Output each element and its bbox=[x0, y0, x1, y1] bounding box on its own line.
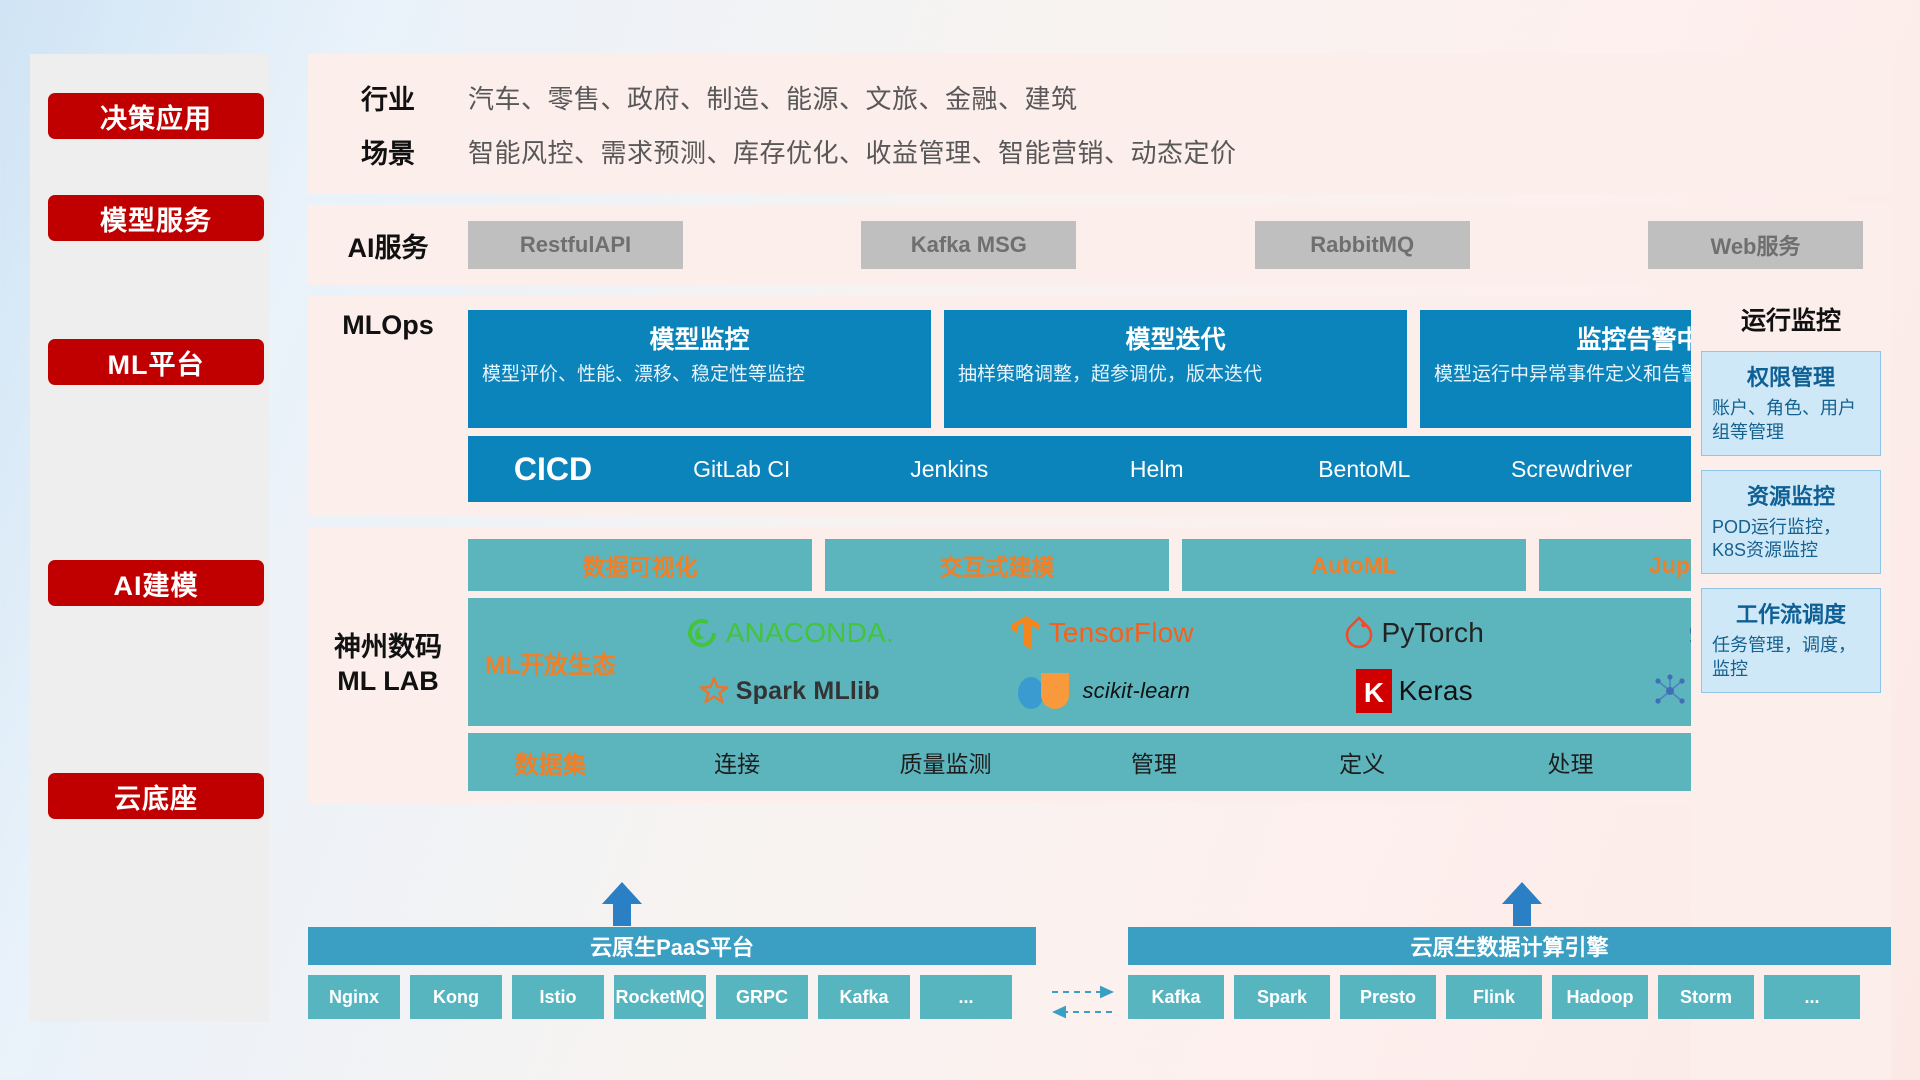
stage-pill-ai-modeling[interactable]: AI建模 bbox=[48, 560, 264, 606]
paas-chip-kong[interactable]: Kong bbox=[410, 975, 502, 1019]
scenario-value: 智能风控、需求预测、库存优化、收益管理、智能营销、动态定价 bbox=[468, 133, 1237, 170]
keras-icon: K bbox=[1356, 669, 1392, 713]
paas-chip-row: Nginx Kong Istio RocketMQ GRPC Kafka ... bbox=[308, 975, 1012, 1019]
arrow-up-paas-icon bbox=[598, 880, 646, 928]
data-chip-hadoop[interactable]: Hadoop bbox=[1552, 975, 1648, 1019]
mlops-card-model-monitoring[interactable]: 模型监控 模型评价、性能、漂移、稳定性等监控 bbox=[468, 310, 931, 428]
cicd-item-jenkins[interactable]: Jenkins bbox=[846, 458, 1054, 481]
scikit-learn-logo: scikit-learn bbox=[946, 662, 1259, 720]
ml-ecosystem-box: ML开放生态 ANACONDA. bbox=[468, 598, 1883, 726]
monitoring-card-title: 工作流调度 bbox=[1712, 597, 1870, 629]
monitoring-title: 运行监控 bbox=[1741, 301, 1841, 337]
modeling-row: 神州数码 ML LAB 数据可视化 交互式建模 AutoML JupyterLa… bbox=[308, 527, 1891, 803]
cicd-item-helm[interactable]: Helm bbox=[1053, 458, 1261, 481]
scikit-learn-icon bbox=[1013, 669, 1075, 713]
tool-chip-interactive-modeling[interactable]: 交互式建模 bbox=[825, 539, 1169, 591]
mlops-band: MLOps 模型监控 模型评价、性能、漂移、稳定性等监控 模型迭代 抽样策略调整… bbox=[308, 296, 1891, 516]
tool-chip-data-visualization[interactable]: 数据可视化 bbox=[468, 539, 812, 591]
arrow-up-data-icon bbox=[1498, 880, 1546, 928]
band-divider bbox=[308, 516, 1891, 527]
scikit-learn-logo-text: scikit-learn bbox=[1082, 678, 1190, 704]
data-chip-presto[interactable]: Presto bbox=[1340, 975, 1436, 1019]
paas-data-link-icon bbox=[1050, 984, 1116, 1020]
band-divider bbox=[308, 194, 1891, 205]
ml-lab-label: 神州数码 ML LAB bbox=[308, 539, 468, 791]
dataset-item-connect[interactable]: 连接 bbox=[633, 745, 841, 779]
ai-service-chip-restfulapi[interactable]: RestfulAPI bbox=[468, 221, 683, 269]
stage-pill-model-service[interactable]: 模型服务 bbox=[48, 195, 264, 241]
data-chip-kafka[interactable]: Kafka bbox=[1128, 975, 1224, 1019]
monitoring-card-desc: POD运行监控，K8S资源监控 bbox=[1712, 516, 1870, 564]
architecture-main: 行业 场景 汽车、零售、政府、制造、能源、文旅、金融、建筑 智能风控、需求预测、… bbox=[308, 54, 1891, 803]
tool-chip-automl[interactable]: AutoML bbox=[1182, 539, 1526, 591]
industry-value: 汽车、零售、政府、制造、能源、文旅、金融、建筑 bbox=[468, 79, 1078, 116]
scenario-label: 场景 bbox=[308, 132, 468, 171]
monitoring-card-resources[interactable]: 资源监控 POD运行监控，K8S资源监控 bbox=[1701, 470, 1881, 575]
dataset-item-define[interactable]: 定义 bbox=[1258, 745, 1466, 779]
dataset-item-process[interactable]: 处理 bbox=[1466, 745, 1674, 779]
stage-pill-decision[interactable]: 决策应用 bbox=[48, 93, 264, 139]
networkx-icon bbox=[1653, 674, 1687, 708]
anaconda-icon bbox=[685, 616, 719, 650]
dataset-item-manage[interactable]: 管理 bbox=[1050, 745, 1258, 779]
anaconda-logo: ANACONDA. bbox=[633, 604, 946, 662]
cicd-item-screwdriver[interactable]: Screwdriver bbox=[1468, 458, 1676, 481]
data-chip-more[interactable]: ... bbox=[1764, 975, 1860, 1019]
data-chip-storm[interactable]: Storm bbox=[1658, 975, 1754, 1019]
spark-mllib-logo-text: Spark MLlib bbox=[736, 677, 880, 706]
mlops-card-title: 模型迭代 bbox=[958, 320, 1393, 356]
tensorflow-logo: TensorFlow bbox=[946, 604, 1259, 662]
stage-pill-cloud-base[interactable]: 云底座 bbox=[48, 773, 264, 819]
keras-logo: K Keras bbox=[1258, 662, 1571, 720]
cicd-item-bentoml[interactable]: BentoML bbox=[1261, 458, 1469, 481]
data-engine-chip-row: Kafka Spark Presto Flink Hadoop Storm ..… bbox=[1128, 975, 1860, 1019]
cloud-data-engine-title: 云原生数据计算引擎 bbox=[1128, 927, 1891, 965]
paas-chip-kafka[interactable]: Kafka bbox=[818, 975, 910, 1019]
monitoring-card-desc: 账户、角色、用户组等管理 bbox=[1712, 397, 1870, 445]
dataset-row: 数据集 连接 质量监测 管理 定义 处理 加载 bbox=[468, 733, 1883, 791]
ml-ecosystem-label: ML开放生态 bbox=[468, 645, 633, 680]
cicd-bar: CICD GitLab CI Jenkins Helm BentoML Scre… bbox=[468, 436, 1883, 502]
paas-chip-grpc[interactable]: GRPC bbox=[716, 975, 808, 1019]
keras-logo-text: Keras bbox=[1399, 675, 1473, 707]
dataset-item-quality[interactable]: 质量监测 bbox=[841, 745, 1049, 779]
anaconda-logo-text: ANACONDA. bbox=[726, 617, 894, 649]
paas-chip-nginx[interactable]: Nginx bbox=[308, 975, 400, 1019]
monitoring-card-workflow[interactable]: 工作流调度 任务管理，调度，监控 bbox=[1701, 588, 1881, 693]
stage-pill-ml-platform[interactable]: ML平台 bbox=[48, 339, 264, 385]
mlops-card-desc: 模型评价、性能、漂移、稳定性等监控 bbox=[482, 363, 917, 388]
ai-service-label: AI服务 bbox=[308, 226, 468, 265]
industry-label: 行业 bbox=[308, 78, 468, 117]
pytorch-icon bbox=[1344, 616, 1374, 650]
data-chip-flink[interactable]: Flink bbox=[1446, 975, 1542, 1019]
cicd-title: CICD bbox=[468, 451, 638, 488]
paas-chip-more[interactable]: ... bbox=[920, 975, 1012, 1019]
ml-lab-label-line1: 神州数码 bbox=[334, 631, 442, 665]
paas-chip-rocketmq[interactable]: RocketMQ bbox=[614, 975, 706, 1019]
tensorflow-logo-text: TensorFlow bbox=[1049, 617, 1194, 649]
mlops-card-model-iteration[interactable]: 模型迭代 抽样策略调整，超参调优，版本迭代 bbox=[944, 310, 1407, 428]
mlops-card-title: 模型监控 bbox=[482, 320, 917, 356]
ai-service-chip-rabbitmq[interactable]: RabbitMQ bbox=[1255, 221, 1470, 269]
cicd-item-gitlab-ci[interactable]: GitLab CI bbox=[638, 458, 846, 481]
dataset-label: 数据集 bbox=[468, 745, 633, 780]
pytorch-logo: PyTorch bbox=[1258, 604, 1571, 662]
band-divider bbox=[308, 285, 1891, 296]
monitoring-card-title: 资源监控 bbox=[1712, 479, 1870, 511]
modeling-band: 神州数码 ML LAB 数据可视化 交互式建模 AutoML JupyterLa… bbox=[308, 527, 1891, 803]
decision-applications-band: 行业 场景 汽车、零售、政府、制造、能源、文旅、金融、建筑 智能风控、需求预测、… bbox=[308, 54, 1891, 194]
spark-star-icon bbox=[699, 676, 729, 706]
data-chip-spark[interactable]: Spark bbox=[1234, 975, 1330, 1019]
monitoring-card-title: 权限管理 bbox=[1712, 360, 1870, 392]
cloud-base-area: 云原生PaaS平台 云原生数据计算引擎 Nginx Kong Istio Roc… bbox=[308, 880, 1891, 1025]
mlops-card-desc: 抽样策略调整，超参调优，版本迭代 bbox=[958, 363, 1393, 388]
ai-service-band: AI服务 RestfulAPI Kafka MSG RabbitMQ Web服务 bbox=[308, 205, 1891, 285]
mlops-label: MLOps bbox=[308, 310, 468, 502]
spark-mllib-logo: Spark MLlib bbox=[633, 662, 946, 720]
ai-service-chip-kafka-msg[interactable]: Kafka MSG bbox=[861, 221, 1076, 269]
ml-lab-label-line2: ML LAB bbox=[337, 665, 439, 699]
pytorch-logo-text: PyTorch bbox=[1381, 617, 1484, 649]
tensorflow-icon bbox=[1010, 614, 1042, 652]
cloud-paas-title: 云原生PaaS平台 bbox=[308, 927, 1036, 965]
mlops-row: MLOps 模型监控 模型评价、性能、漂移、稳定性等监控 模型迭代 抽样策略调整… bbox=[308, 296, 1891, 516]
svg-text:K: K bbox=[1364, 677, 1384, 708]
monitoring-card-permissions[interactable]: 权限管理 账户、角色、用户组等管理 bbox=[1701, 351, 1881, 456]
monitoring-card-desc: 任务管理，调度，监控 bbox=[1712, 634, 1870, 682]
ai-service-chip-web[interactable]: Web服务 bbox=[1648, 221, 1863, 269]
paas-chip-istio[interactable]: Istio bbox=[512, 975, 604, 1019]
